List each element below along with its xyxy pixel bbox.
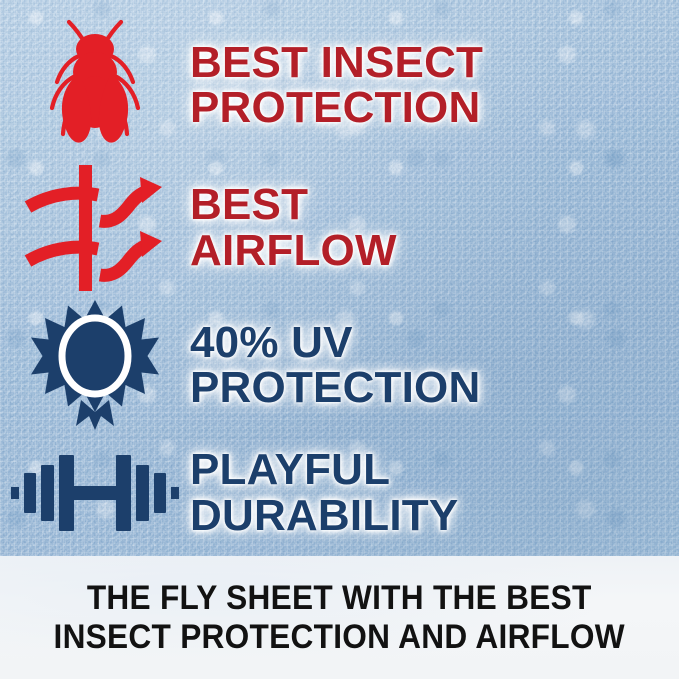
feature-icon-cell (0, 16, 190, 154)
feature-label-uv-protection: 40% UV PROTECTION (190, 320, 679, 411)
feature-row-airflow: BEST AIRFLOW (0, 160, 679, 295)
feature-icon-cell (0, 165, 190, 291)
feature-label-insect-protection: BEST INSECT PROTECTION (190, 40, 679, 131)
sun-uv-icon (31, 300, 159, 430)
feature-row-uv-protection: 40% UV PROTECTION (0, 295, 679, 435)
feature-row-durability: PLAYFUL DURABILITY (0, 435, 679, 550)
feature-label-airflow: BEST AIRFLOW (190, 182, 679, 273)
fly-icon (35, 16, 155, 154)
dumbbell-icon (11, 451, 179, 535)
feature-label-cell: BEST AIRFLOW (190, 182, 679, 273)
airflow-icon (20, 165, 170, 291)
feature-label-cell: 40% UV PROTECTION (190, 320, 679, 411)
feature-label-cell: BEST INSECT PROTECTION (190, 40, 679, 131)
feature-list: BEST INSECT PROTECTION (0, 0, 679, 556)
feature-row-insect-protection: BEST INSECT PROTECTION (0, 10, 679, 160)
poster-caption: THE FLY SHEET WITH THE BEST INSECT PROTE… (54, 579, 625, 657)
product-feature-poster: BEST INSECT PROTECTION (0, 0, 679, 679)
feature-icon-cell (0, 300, 190, 430)
caption-band: THE FLY SHEET WITH THE BEST INSECT PROTE… (0, 556, 679, 679)
feature-icon-cell (0, 451, 190, 535)
feature-label-durability: PLAYFUL DURABILITY (190, 447, 679, 538)
feature-label-cell: PLAYFUL DURABILITY (190, 447, 679, 538)
